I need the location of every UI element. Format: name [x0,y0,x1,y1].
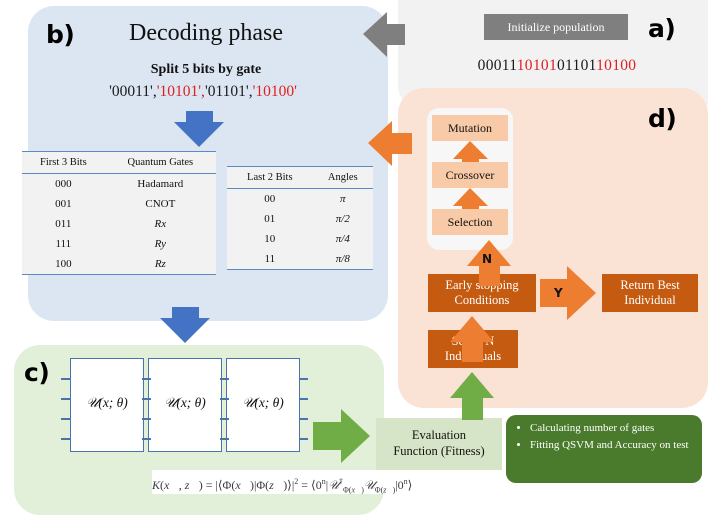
table-row: 00 π [227,189,373,210]
list-item: Calculating number of gates [530,422,696,436]
bit-group-3: '01101', [205,83,253,100]
bit-group-2: '10101', [157,83,205,100]
angles-value-3: π/8 [313,249,373,270]
qubit-wire [142,398,151,400]
qubit-wire [142,418,151,420]
qubit-wire [299,438,308,440]
circuit-unitary-box-2: 𝒰(x; θ) [148,358,222,452]
return-best-line-2: Individual [620,293,679,308]
gates-bits-1: 001 [22,194,105,214]
gates-table-header-0: First 3 Bits [22,152,105,174]
list-item: Fitting QSVM and Accuracy on test [530,439,696,453]
ga-step-selection: Selection [432,209,508,235]
genome-segment-3: 01101 [557,57,596,74]
panel-a-tag: a) [648,14,675,43]
gates-bits-3: 111 [22,234,105,254]
branch-label-no: N [482,252,492,266]
return-best-line-1: Return Best [620,278,679,293]
panel-b-tag: b) [46,20,74,49]
angles-table-header-0: Last 2 Bits [227,167,313,189]
angles-bits-3: 11 [227,249,313,270]
qubit-wire [61,418,70,420]
gates-bits-4: 100 [22,254,105,275]
bit-group-4: '10100' [253,83,297,100]
qubit-wire [220,398,229,400]
gates-name-4: Rz [105,254,216,275]
return-best-individual-box: Return Best Individual [602,274,698,312]
qubit-wire [61,438,70,440]
table-row: 011 Rx [22,214,216,234]
circuit-unitary-label-3: 𝒰(x; θ) [227,395,299,411]
qubit-wire [220,418,229,420]
qubit-wire [299,398,308,400]
table-row: 10 π/4 [227,229,373,249]
kernel-formula: K(x⃗, z⃗) = |⟨Φ(x⃗)|Φ(z⃗)⟩|2 = ⟨0n|𝒰†Φ(x… [152,470,408,494]
table-row: 01 π/2 [227,209,373,229]
angles-bits-1: 01 [227,209,313,229]
genome-segment-2: 10101 [517,57,557,74]
qubit-wire [142,378,151,380]
split-bit-groups: '00011','10101','01101','10100' [38,83,368,101]
angles-value-2: π/4 [313,229,373,249]
ga-step-crossover: Crossover [432,162,508,188]
gates-bits-0: 000 [22,174,105,195]
gates-table-header-1: Quantum Gates [105,152,216,174]
circuit-unitary-box-3: 𝒰(x; θ) [226,358,300,452]
diagram-canvas: a) Initialize population 000111010101101… [0,0,708,515]
early-stopping-line-1: Early stopping [445,278,518,293]
genome-bitstring: 00011101010110110100 [452,57,662,75]
initialize-population-box: Initialize population [484,14,628,40]
panel-c-tag: c) [24,358,49,387]
qubit-wire [61,378,70,380]
gates-name-3: Ry [105,234,216,254]
table-row: 001 CNOT [22,194,216,214]
split-bits-label: Split 5 bits by gate [86,62,326,78]
circuit-unitary-label-1: 𝒰(x; θ) [71,395,143,411]
qubit-wire [220,438,229,440]
qubit-wire [220,378,229,380]
branch-label-yes: Y [554,286,563,300]
early-stopping-box: Early stopping Conditions [428,274,536,312]
bit-group-1: '00011', [109,83,157,100]
gates-name-0: Hadamard [105,174,216,195]
select-n-line-2: Individuals [445,349,501,364]
circuit-unitary-label-2: 𝒰(x; θ) [149,395,221,411]
qubit-wire [142,438,151,440]
genome-segment-4: 10100 [596,57,636,74]
evaluation-function-box: Evaluation Function (Fitness) [376,418,502,470]
table-row: 111 Ry [22,234,216,254]
angles-table-header-1: Angles [313,167,373,189]
gates-name-1: CNOT [105,194,216,214]
qubit-wire [299,418,308,420]
angles-bits-2: 10 [227,229,313,249]
angles-lookup-table: Last 2 Bits Angles 00 π 01 π/2 10 π/4 [227,166,373,270]
qubit-wire [61,398,70,400]
decoding-phase-title: Decoding phase [86,20,326,47]
qubit-wire [299,378,308,380]
circuit-unitary-box-1: 𝒰(x; θ) [70,358,144,452]
early-stopping-line-2: Conditions [445,293,518,308]
gates-bits-2: 011 [22,214,105,234]
panel-d-tag: d) [648,104,676,133]
genome-segment-1: 00011 [478,57,517,74]
evaluation-line-2: Function (Fitness) [393,444,484,460]
ga-step-mutation: Mutation [432,115,508,141]
evaluation-line-1: Evaluation [393,428,484,444]
select-n-individuals-box: Select N Individuals [428,330,518,368]
fitness-details-box: Calculating number of gates Fitting QSVM… [506,415,702,483]
table-row: 100 Rz [22,254,216,275]
table-row: 000 Hadamard [22,174,216,195]
angles-value-1: π/2 [313,209,373,229]
angles-value-0: π [313,189,373,210]
table-row: 11 π/8 [227,249,373,270]
gates-name-2: Rx [105,214,216,234]
kernel-formula-text: K(x⃗, z⃗) = |⟨Φ(x⃗)|Φ(z⃗)⟩|2 = ⟨0n|𝒰†Φ(x… [152,478,412,492]
angles-bits-0: 00 [227,189,313,210]
gates-lookup-table: First 3 Bits Quantum Gates 000 Hadamard … [22,151,216,275]
select-n-line-1: Select N [445,334,501,349]
